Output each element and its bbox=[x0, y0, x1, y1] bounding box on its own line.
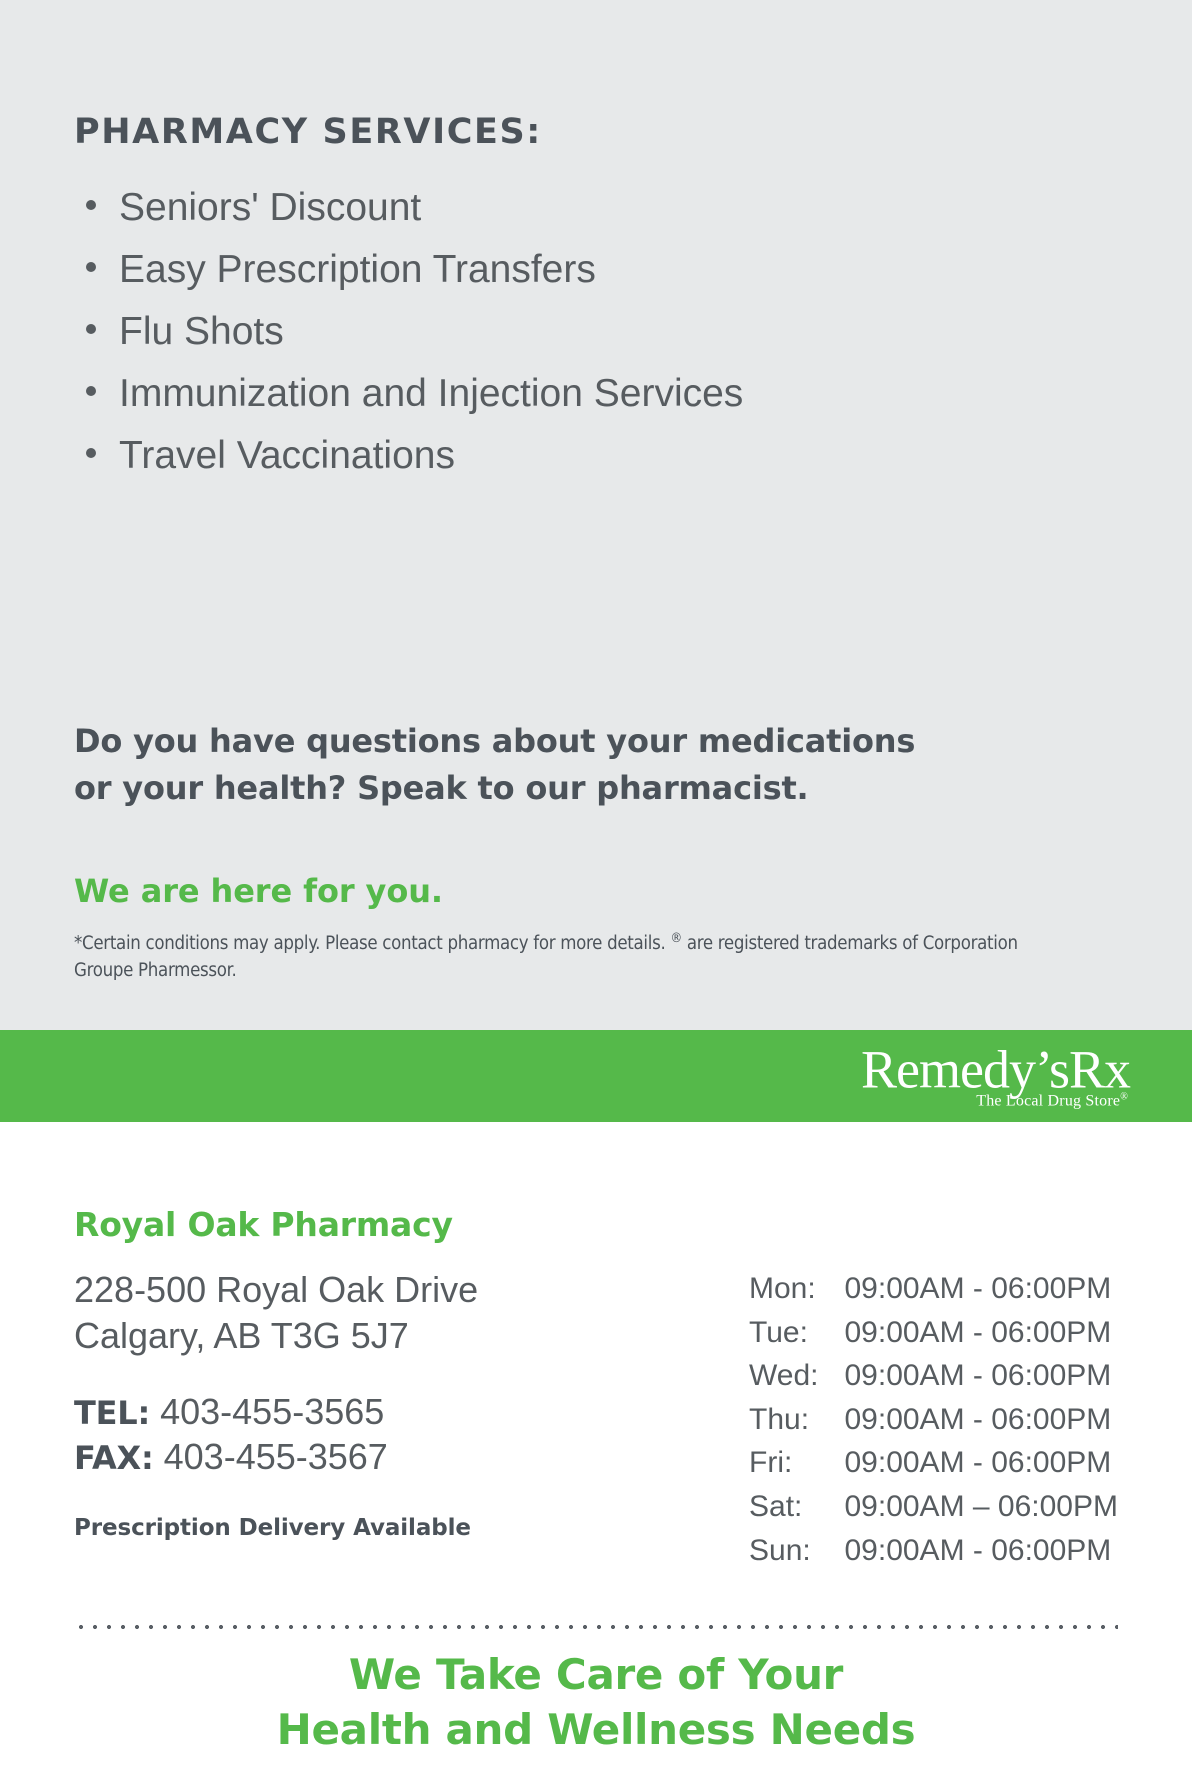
hours-day: Sat: bbox=[749, 1489, 844, 1533]
contact-and-hours: 228-500 Royal Oak Drive Calgary, AB T3G … bbox=[74, 1267, 1118, 1576]
service-label: Travel Vaccinations bbox=[119, 436, 455, 475]
promo-tagline: We are here for you. bbox=[74, 872, 443, 910]
store-name: Royal Oak Pharmacy bbox=[74, 1122, 1118, 1241]
bullet-icon bbox=[86, 324, 96, 334]
registered-mark-icon: ® bbox=[1120, 1091, 1128, 1102]
hours-time: 09:00AM - 06:00PM bbox=[844, 1358, 1118, 1402]
page-title: PHARMACY SERVICES: bbox=[74, 0, 1118, 150]
list-item: Travel Vaccinations bbox=[74, 436, 1118, 475]
closing-tagline: We Take Care of Your Health and Wellness… bbox=[0, 1647, 1192, 1758]
hours-day: Tue: bbox=[749, 1315, 844, 1359]
contact-panel: Royal Oak Pharmacy 228-500 Royal Oak Dri… bbox=[0, 1122, 1192, 1785]
service-label: Immunization and Injection Services bbox=[119, 374, 743, 413]
bullet-icon bbox=[86, 262, 96, 272]
services-list: Seniors' Discount Easy Prescription Tran… bbox=[74, 188, 1118, 475]
hours-table: Mon: 09:00AM - 06:00PM Tue: 09:00AM - 06… bbox=[749, 1271, 1118, 1576]
hours-day: Mon: bbox=[749, 1271, 844, 1315]
brand-banner: Remedy’sRx The Local Drug Store® bbox=[0, 1030, 1192, 1122]
fax-value: 403-455-3567 bbox=[164, 1436, 388, 1477]
bullet-icon bbox=[86, 448, 96, 458]
tel-label: TEL: bbox=[74, 1394, 150, 1432]
list-item: Flu Shots bbox=[74, 312, 1118, 351]
closing-line-1: We Take Care of Your bbox=[0, 1647, 1192, 1702]
table-row: Wed: 09:00AM - 06:00PM bbox=[749, 1358, 1118, 1402]
hours-time: 09:00AM – 06:00PM bbox=[844, 1489, 1118, 1533]
hours-time: 09:00AM - 06:00PM bbox=[844, 1533, 1118, 1577]
table-row: Mon: 09:00AM - 06:00PM bbox=[749, 1271, 1118, 1315]
contact-details: 228-500 Royal Oak Drive Calgary, AB T3G … bbox=[74, 1267, 674, 1541]
disclaimer-part-2: are registered trademarks of bbox=[682, 933, 918, 954]
table-row: Fri: 09:00AM - 06:00PM bbox=[749, 1445, 1118, 1489]
list-item: Seniors' Discount bbox=[74, 188, 1118, 227]
list-item: Immunization and Injection Services bbox=[74, 374, 1118, 413]
hours-time: 09:00AM - 06:00PM bbox=[844, 1445, 1118, 1489]
hours-day: Fri: bbox=[749, 1445, 844, 1489]
bullet-icon bbox=[86, 200, 96, 210]
services-panel: PHARMACY SERVICES: Seniors' Discount Eas… bbox=[0, 0, 1192, 1030]
list-item: Easy Prescription Transfers bbox=[74, 250, 1118, 289]
hours-time: 09:00AM - 06:00PM bbox=[844, 1402, 1118, 1446]
hours-time: 09:00AM - 06:00PM bbox=[844, 1315, 1118, 1359]
fax-row: FAX: 403-455-3567 bbox=[74, 1434, 674, 1479]
logo-tagline-text: The Local Drug Store bbox=[976, 1093, 1120, 1110]
table-row: Tue: 09:00AM - 06:00PM bbox=[749, 1315, 1118, 1359]
service-label: Seniors' Discount bbox=[119, 188, 421, 227]
question-line-2: or your health? Speak to our pharmacist. bbox=[74, 765, 1074, 812]
service-label: Easy Prescription Transfers bbox=[119, 250, 596, 289]
address-line-2: Calgary, AB T3G 5J7 bbox=[74, 1313, 674, 1359]
service-label: Flu Shots bbox=[119, 312, 284, 351]
tel-value[interactable]: 403-455-3565 bbox=[160, 1391, 384, 1432]
dotted-divider bbox=[74, 1624, 1118, 1630]
hours-day: Wed: bbox=[749, 1358, 844, 1402]
pharmacist-question: Do you have questions about your medicat… bbox=[74, 718, 1074, 813]
delivery-note: Prescription Delivery Available bbox=[74, 1515, 674, 1541]
registered-mark-icon: ® bbox=[670, 931, 681, 946]
phone-block: TEL: 403-455-3565 FAX: 403-455-3567 bbox=[74, 1389, 674, 1479]
closing-line-2: Health and Wellness Needs bbox=[0, 1702, 1192, 1757]
telephone-row: TEL: 403-455-3565 bbox=[74, 1389, 674, 1434]
hours-day: Thu: bbox=[749, 1402, 844, 1446]
hours-time: 09:00AM - 06:00PM bbox=[844, 1271, 1118, 1315]
question-line-1: Do you have questions about your medicat… bbox=[74, 718, 1074, 765]
logo-wordmark: Remedy’sRx bbox=[861, 1042, 1130, 1096]
address-line-1: 228-500 Royal Oak Drive bbox=[74, 1267, 674, 1313]
table-row: Sat: 09:00AM – 06:00PM bbox=[749, 1489, 1118, 1533]
table-row: Sun: 09:00AM - 06:00PM bbox=[749, 1533, 1118, 1577]
hours-day: Sun: bbox=[749, 1533, 844, 1577]
fax-label: FAX: bbox=[74, 1439, 154, 1477]
bullet-icon bbox=[86, 386, 96, 396]
disclaimer-part-1: *Certain conditions may apply. Please co… bbox=[74, 933, 670, 954]
table-row: Thu: 09:00AM - 06:00PM bbox=[749, 1402, 1118, 1446]
remedysrx-logo: Remedy’sRx The Local Drug Store® bbox=[861, 1042, 1130, 1109]
disclaimer-text: *Certain conditions may apply. Please co… bbox=[74, 930, 1069, 985]
